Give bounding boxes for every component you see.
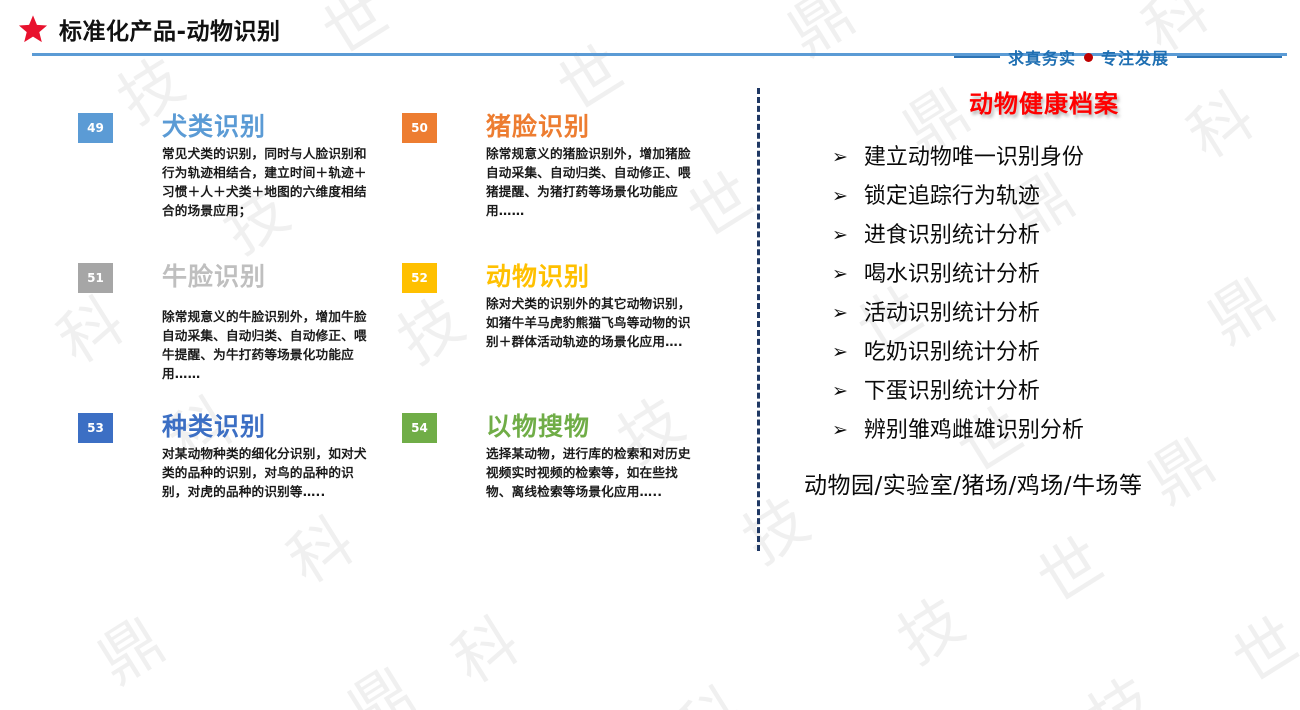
feature-card-description: 除常规意义的牛脸识别外，增加牛脸自动采集、自动归类、自动修正、喂牛提醒、为牛打药… (162, 308, 372, 384)
arrow-bullet-icon: ➢ (832, 304, 848, 323)
watermark-char: 技 (733, 488, 818, 573)
feature-card-title: 猪脸识别 (486, 113, 696, 140)
panel-bullet-list: ➢建立动物唯一识别身份➢锁定追踪行为轨迹➢进食识别统计分析➢喝水识别统计分析➢活… (790, 145, 1290, 444)
tagline-rule-left (954, 56, 1000, 58)
feature-card-body: 种类识别对某动物种类的细化分识别，如对犬类的品种的识别，对鸟的品种的识别，对虎的… (162, 413, 372, 502)
feature-card-title: 动物识别 (486, 263, 696, 290)
watermark-char: 世 (1223, 608, 1300, 693)
watermark-char: 技 (888, 588, 973, 673)
panel-footer-text: 动物园/实验室/猪场/鸡场/牛场等 (790, 466, 1290, 500)
feature-card-description: 常见犬类的识别，同时与人脸识别和行为轨迹相结合，建立时间＋轨迹＋习惯＋人＋犬类＋… (162, 145, 372, 221)
right-panel: 动物健康档案 ➢建立动物唯一识别身份➢锁定追踪行为轨迹➢进食识别统计分析➢喝水识… (790, 84, 1290, 500)
feature-card-body: 以物搜物选择某动物，进行库的检索和对历史视频实时视频的检索等，如在些找物、离线检… (486, 413, 696, 502)
feature-card-columns: 49犬类识别常见犬类的识别，同时与人脸识别和行为轨迹相结合，建立时间＋轨迹＋习惯… (0, 88, 740, 558)
feature-card-body: 动物识别除对犬类的识别外的其它动物识别，如猪牛羊马虎豹熊猫飞鸟等动物的识别＋群体… (486, 263, 696, 352)
panel-bullet-item[interactable]: ➢吃奶识别统计分析 (832, 340, 1290, 366)
panel-bullet-label: 锁定追踪行为轨迹 (864, 184, 1040, 210)
watermark-char: 世 (1028, 528, 1113, 613)
feature-card-badge: 51 (78, 263, 113, 293)
feature-card-badge: 54 (402, 413, 437, 443)
feature-card-badge: 52 (402, 263, 437, 293)
panel-bullet-item[interactable]: ➢建立动物唯一识别身份 (832, 145, 1290, 171)
panel-bullet-label: 进食识别统计分析 (864, 223, 1040, 249)
arrow-bullet-icon: ➢ (832, 421, 848, 440)
title-block: 标准化产品-动物识别 (18, 12, 281, 46)
panel-bullet-label: 喝水识别统计分析 (864, 262, 1040, 288)
feature-card-title: 犬类识别 (162, 113, 372, 140)
feature-card-badge: 53 (78, 413, 113, 443)
slide-canvas: 世鼎科技世鼎科技世鼎科技世鼎科技世鼎科技世鼎科技世鼎科技 标准化产品-动物识别 … (0, 0, 1300, 710)
watermark-char: 科 (668, 678, 753, 710)
panel-bullet-label: 吃奶识别统计分析 (864, 340, 1040, 366)
red-star-icon (18, 14, 48, 44)
panel-bullet-item[interactable]: ➢锁定追踪行为轨迹 (832, 184, 1290, 210)
panel-bullet-label: 活动识别统计分析 (864, 301, 1040, 327)
panel-bullet-item[interactable]: ➢活动识别统计分析 (832, 301, 1290, 327)
feature-card-description: 除常规意义的猪脸识别外，增加猪脸自动采集、自动归类、自动修正、喂猪提醒、为猪打药… (486, 145, 696, 221)
vertical-dashed-divider (757, 88, 760, 551)
panel-bullet-label: 建立动物唯一识别身份 (864, 145, 1084, 171)
watermark-char: 技 (1078, 668, 1163, 710)
page-title: 标准化产品-动物识别 (59, 12, 281, 46)
feature-card-badge: 50 (402, 113, 437, 143)
panel-bullet-item[interactable]: ➢下蛋识别统计分析 (832, 379, 1290, 405)
feature-card-body: 牛脸识别除常规意义的牛脸识别外，增加牛脸自动采集、自动归类、自动修正、喂牛提醒、… (162, 263, 372, 384)
arrow-bullet-icon: ➢ (832, 382, 848, 401)
panel-bullet-label: 下蛋识别统计分析 (864, 379, 1040, 405)
panel-bullet-item[interactable]: ➢辨别雏鸡雌雄识别分析 (832, 418, 1290, 444)
arrow-bullet-icon: ➢ (832, 343, 848, 362)
feature-card-body: 犬类识别常见犬类的识别，同时与人脸识别和行为轨迹相结合，建立时间＋轨迹＋习惯＋人… (162, 113, 372, 221)
feature-card-title: 以物搜物 (486, 413, 696, 440)
panel-bullet-label: 辨别雏鸡雌雄识别分析 (864, 418, 1084, 444)
arrow-bullet-icon: ➢ (832, 148, 848, 167)
tagline-rule-right (1177, 56, 1282, 58)
tagline-text-left: 求真务实 (1008, 45, 1076, 69)
watermark-char: 科 (443, 608, 528, 693)
panel-bullet-item[interactable]: ➢进食识别统计分析 (832, 223, 1290, 249)
feature-card-description: 除对犬类的识别外的其它动物识别，如猪牛羊马虎豹熊猫飞鸟等动物的识别＋群体活动轨迹… (486, 295, 696, 352)
feature-card-body: 猪脸识别除常规意义的猪脸识别外，增加猪脸自动采集、自动归类、自动修正、喂猪提醒、… (486, 113, 696, 221)
panel-bullet-item[interactable]: ➢喝水识别统计分析 (832, 262, 1290, 288)
feature-card-description: 选择某动物，进行库的检索和对历史视频实时视频的检索等，如在些找物、离线检索等场景… (486, 445, 696, 502)
watermark-char: 鼎 (88, 608, 173, 693)
tagline-text-right: 专注发展 (1101, 45, 1169, 69)
panel-title: 动物健康档案 (798, 84, 1290, 119)
feature-card-badge: 49 (78, 113, 113, 143)
red-dot-icon (1084, 53, 1093, 62)
watermark-char: 鼎 (338, 658, 423, 710)
arrow-bullet-icon: ➢ (832, 187, 848, 206)
feature-card-title: 牛脸识别 (162, 263, 372, 290)
arrow-bullet-icon: ➢ (832, 226, 848, 245)
feature-card-description: 对某动物种类的细化分识别，如对犬类的品种的识别，对鸟的品种的识别，对虎的品种的识… (162, 445, 372, 502)
arrow-bullet-icon: ➢ (832, 265, 848, 284)
tagline-block: 求真务实 专注发展 (954, 45, 1282, 69)
feature-card-title: 种类识别 (162, 413, 372, 440)
